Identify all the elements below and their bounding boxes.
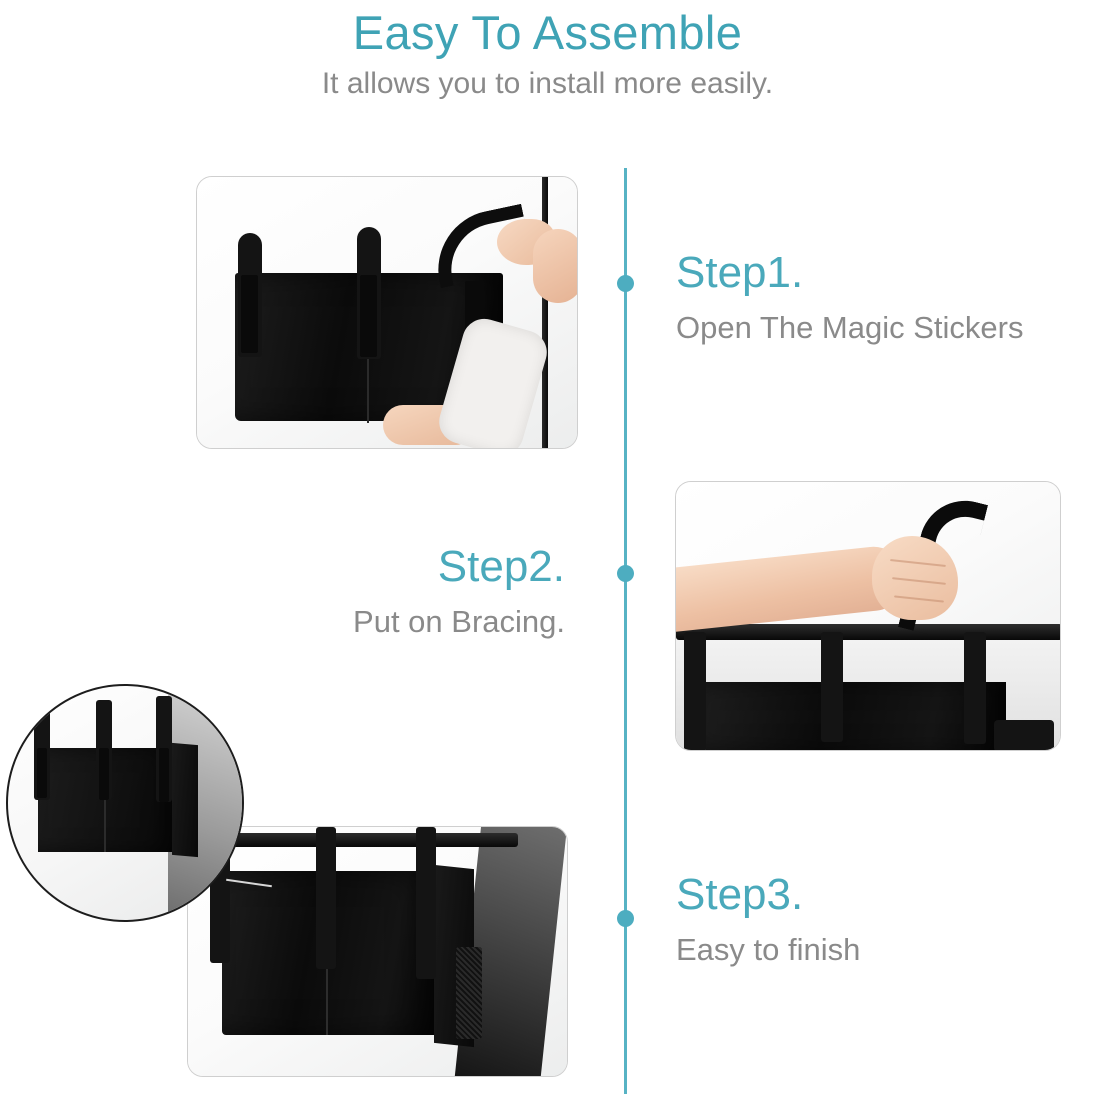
step-1-title: Step1. <box>676 246 1023 300</box>
page-title: Easy To Assemble <box>0 4 1095 62</box>
velcro-strip-middle <box>360 275 377 357</box>
bed-frame-pole <box>542 177 548 449</box>
step-2-description: Put on Bracing. <box>353 600 565 644</box>
step-2-text: Step2. Put on Bracing. <box>353 540 565 644</box>
step-2-photo <box>675 481 1061 751</box>
timeline-dot-step-1 <box>617 275 634 292</box>
timeline-dot-step-3 <box>617 910 634 927</box>
detail-zoom-inset <box>6 684 244 922</box>
timeline-track <box>624 168 627 1094</box>
zoom-velcro-right <box>159 748 169 802</box>
step-2-title: Step2. <box>353 540 565 594</box>
caddy-strap-middle <box>316 827 336 969</box>
step-1-description: Open The Magic Stickers <box>676 306 1023 350</box>
step-3-text: Step3. Easy to finish <box>676 868 860 972</box>
page-header: Easy To Assemble It allows you to instal… <box>0 0 1095 104</box>
caddy-strap-right <box>964 632 986 744</box>
step-3-description: Easy to finish <box>676 928 860 972</box>
step-3-photo-scene <box>188 827 567 1076</box>
step-2-photo-scene <box>676 482 1060 750</box>
page-subtitle: It allows you to install more easily. <box>0 64 1095 104</box>
caddy-body <box>706 682 1006 751</box>
zoom-velcro-middle <box>99 748 109 800</box>
forearm-upper <box>533 229 578 303</box>
step-1-photo <box>196 176 578 449</box>
step-3-photo <box>187 826 568 1077</box>
step-1-text: Step1. Open The Magic Stickers <box>676 246 1023 350</box>
caddy-strap-right <box>416 827 436 979</box>
zoom-velcro-left <box>37 748 47 798</box>
velcro-strip-left <box>241 275 258 353</box>
timeline-dot-step-2 <box>617 565 634 582</box>
step-1-photo-scene <box>197 177 577 448</box>
caddy-mesh-pocket <box>456 947 482 1039</box>
zoom-caddy-gusset <box>172 743 198 857</box>
caddy-strap-left <box>684 632 706 751</box>
caddy-strap-middle <box>821 632 843 742</box>
bed-side-rail <box>676 624 1061 640</box>
step-3-title: Step3. <box>676 868 860 922</box>
caddy-side-pocket <box>994 720 1054 751</box>
